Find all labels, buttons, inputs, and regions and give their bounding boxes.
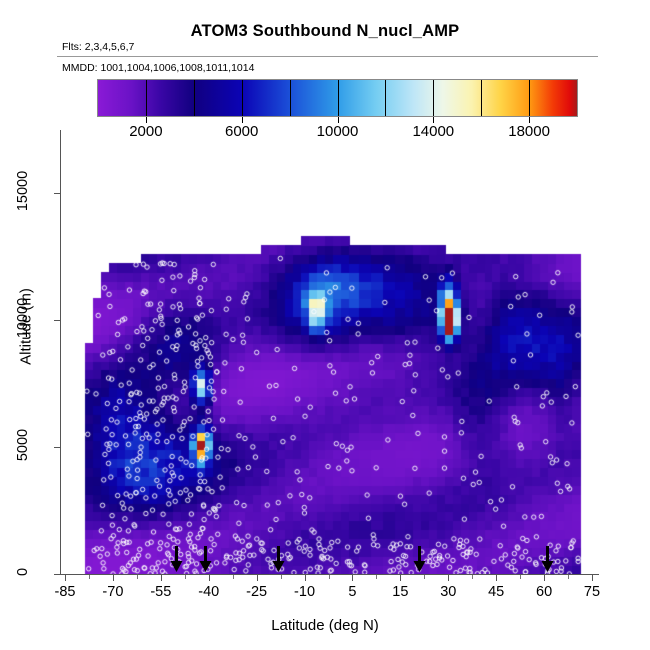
colorbar-divider: [338, 80, 339, 116]
y-axis-tick: [54, 574, 60, 575]
x-axis-tick: [592, 575, 593, 581]
x-axis-tick-label: 75: [584, 584, 600, 600]
colorbar-divider: [433, 80, 434, 116]
x-axis-tick: [65, 575, 66, 581]
x-axis-tick-label: -10: [294, 584, 315, 600]
x-axis-minor-tick: [329, 575, 330, 579]
latitude-marker-arrow: [413, 546, 426, 572]
colorbar: [97, 79, 578, 117]
x-axis-minor-tick: [185, 575, 186, 579]
colorbar-divider: [385, 80, 386, 116]
x-axis-minor-tick: [233, 575, 234, 579]
x-axis-tick: [257, 575, 258, 581]
x-axis-tick: [305, 575, 306, 581]
flights-annotation: Flts: 2,3,4,5,6,7: [62, 41, 134, 53]
x-axis-minor-tick: [520, 575, 521, 579]
y-axis-tick-label: 5000: [15, 422, 31, 468]
colorbar-tick-label: 14000: [412, 123, 454, 140]
x-axis-tick: [544, 575, 545, 581]
x-axis-tick-label: -70: [102, 584, 123, 600]
x-axis-tick-label: 60: [536, 584, 552, 600]
x-axis-title: Latitude (deg N): [0, 617, 650, 634]
x-axis-tick: [496, 575, 497, 581]
y-axis-tick-label: 10000: [15, 295, 31, 341]
x-axis-minor-tick: [89, 575, 90, 579]
colorbar-divider: [194, 80, 195, 116]
mmdd-annotation: MMDD: 1001,1004,1006,1008,1011,1014: [62, 62, 254, 74]
colorbar-tick-label: 10000: [317, 123, 359, 140]
colorbar-divider: [242, 80, 243, 116]
x-axis-minor-tick: [472, 575, 473, 579]
x-axis-tick: [448, 575, 449, 581]
x-axis-tick-label: 30: [440, 584, 456, 600]
colorbar-divider: [146, 80, 147, 116]
x-axis-tick: [113, 575, 114, 581]
heatmap-canvas-holder: [61, 130, 599, 574]
colorbar-divider: [529, 80, 530, 116]
x-axis-tick-label: -25: [246, 584, 267, 600]
x-axis-tick: [161, 575, 162, 581]
x-axis-tick: [209, 575, 210, 581]
x-axis-minor-tick: [137, 575, 138, 579]
latitude-marker-arrow: [199, 546, 212, 572]
x-axis-tick-label: -55: [150, 584, 171, 600]
x-axis-tick-label: 45: [488, 584, 504, 600]
x-axis-minor-tick: [424, 575, 425, 579]
x-axis-tick: [400, 575, 401, 581]
x-axis-tick-label: 15: [392, 584, 408, 600]
x-axis-minor-tick: [376, 575, 377, 579]
colorbar-tick-label: 6000: [225, 123, 258, 140]
latitude-marker-arrow: [272, 546, 285, 572]
colorbar-divider: [290, 80, 291, 116]
x-axis-tick-label: -40: [198, 584, 219, 600]
y-axis-tick: [54, 193, 60, 194]
y-axis-tick: [54, 447, 60, 448]
y-axis-tick: [54, 320, 60, 321]
header-divider: [57, 56, 598, 57]
page-title: ATOM3 Southbound N_nucl_AMP: [0, 22, 650, 41]
x-axis-minor-tick: [568, 575, 569, 579]
colorbar-tick-label: 2000: [129, 123, 162, 140]
latitude-marker-arrow: [541, 546, 554, 572]
x-axis-tick-label: 5: [348, 584, 356, 600]
plot-area: [60, 130, 599, 575]
heatmap-canvas: [61, 130, 599, 574]
x-axis-tick-label: -85: [55, 584, 76, 600]
x-axis-minor-tick: [281, 575, 282, 579]
latitude-marker-arrow: [170, 546, 183, 572]
colorbar-tick-label: 18000: [508, 123, 550, 140]
y-axis-tick-label: 0: [15, 549, 31, 595]
x-axis-tick: [352, 575, 353, 581]
y-axis-tick-label: 15000: [15, 168, 31, 214]
colorbar-divider: [481, 80, 482, 116]
